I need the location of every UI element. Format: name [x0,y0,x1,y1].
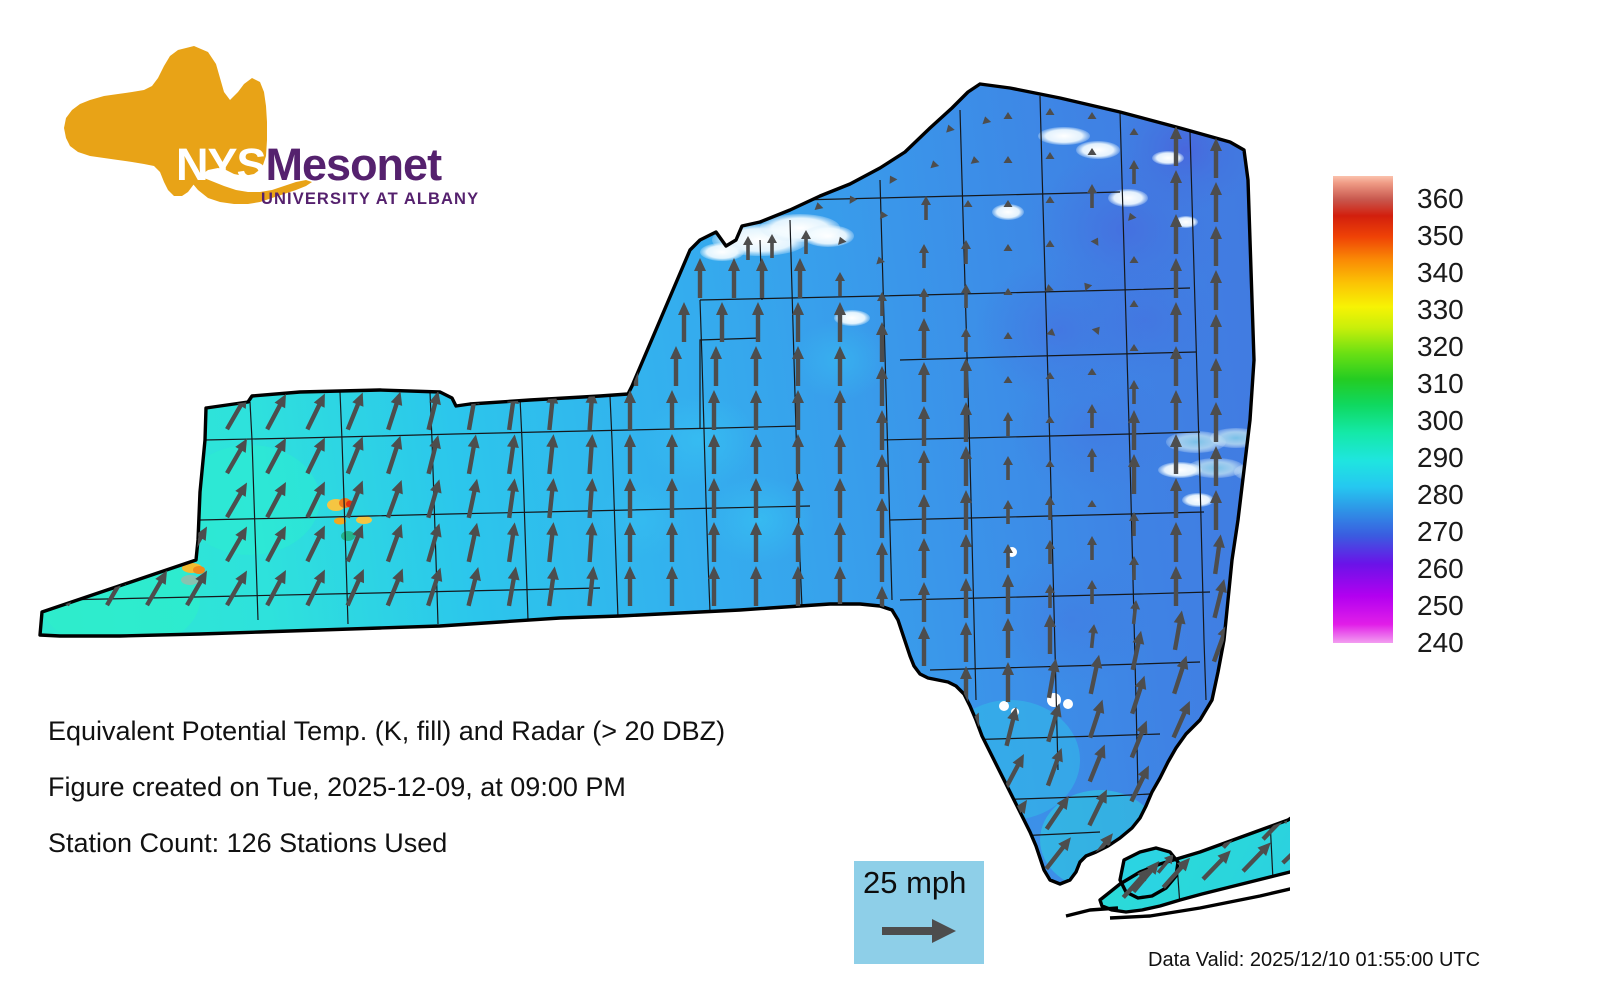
data-valid-timestamp: Data Valid: 2025/12/10 01:55:00 UTC [1148,950,1480,970]
colorbar-tick: 350 [1417,222,1464,250]
caption-created-line: Figure created on Tue, 2025-12-09, at 09… [48,774,908,801]
colorbar: 360 350 340 330 320 310 300 290 280 270 … [1333,176,1563,646]
colorbar-tick: 310 [1417,370,1464,398]
logo-subtitle: UNIVERSITY AT ALBANY [261,190,479,209]
colorbar-tick: 240 [1417,629,1464,657]
colorbar-tick: 320 [1417,333,1464,361]
nys-mesonet-logo: NYSMesonet UNIVERSITY AT ALBANY [48,44,408,209]
colorbar-gradient-strip [1333,176,1393,643]
colorbar-tick: 270 [1417,518,1464,546]
colorbar-tick: 330 [1417,296,1464,324]
logo-wordmark: NYSMesonet [176,142,441,187]
colorbar-tick: 260 [1417,555,1464,583]
logo-mesonet-text: Mesonet [266,139,442,190]
figure-caption: Equivalent Potential Temp. (K, fill) and… [48,718,908,886]
colorbar-tick: 250 [1417,592,1464,620]
wind-arrow-icon [882,916,958,946]
caption-station-count-line: Station Count: 126 Stations Used [48,830,908,857]
colorbar-tick: 300 [1417,407,1464,435]
colorbar-tick: 280 [1417,481,1464,509]
caption-title-line: Equivalent Potential Temp. (K, fill) and… [48,718,908,745]
logo-nys-text: NYS [176,139,266,190]
wind-speed-key: 25 mph [854,861,984,964]
colorbar-tick: 360 [1417,185,1464,213]
colorbar-tick: 340 [1417,259,1464,287]
colorbar-tick: 290 [1417,444,1464,472]
colorbar-tick-labels: 360 350 340 330 320 310 300 290 280 270 … [1417,176,1557,643]
wind-key-label: 25 mph [863,867,966,898]
